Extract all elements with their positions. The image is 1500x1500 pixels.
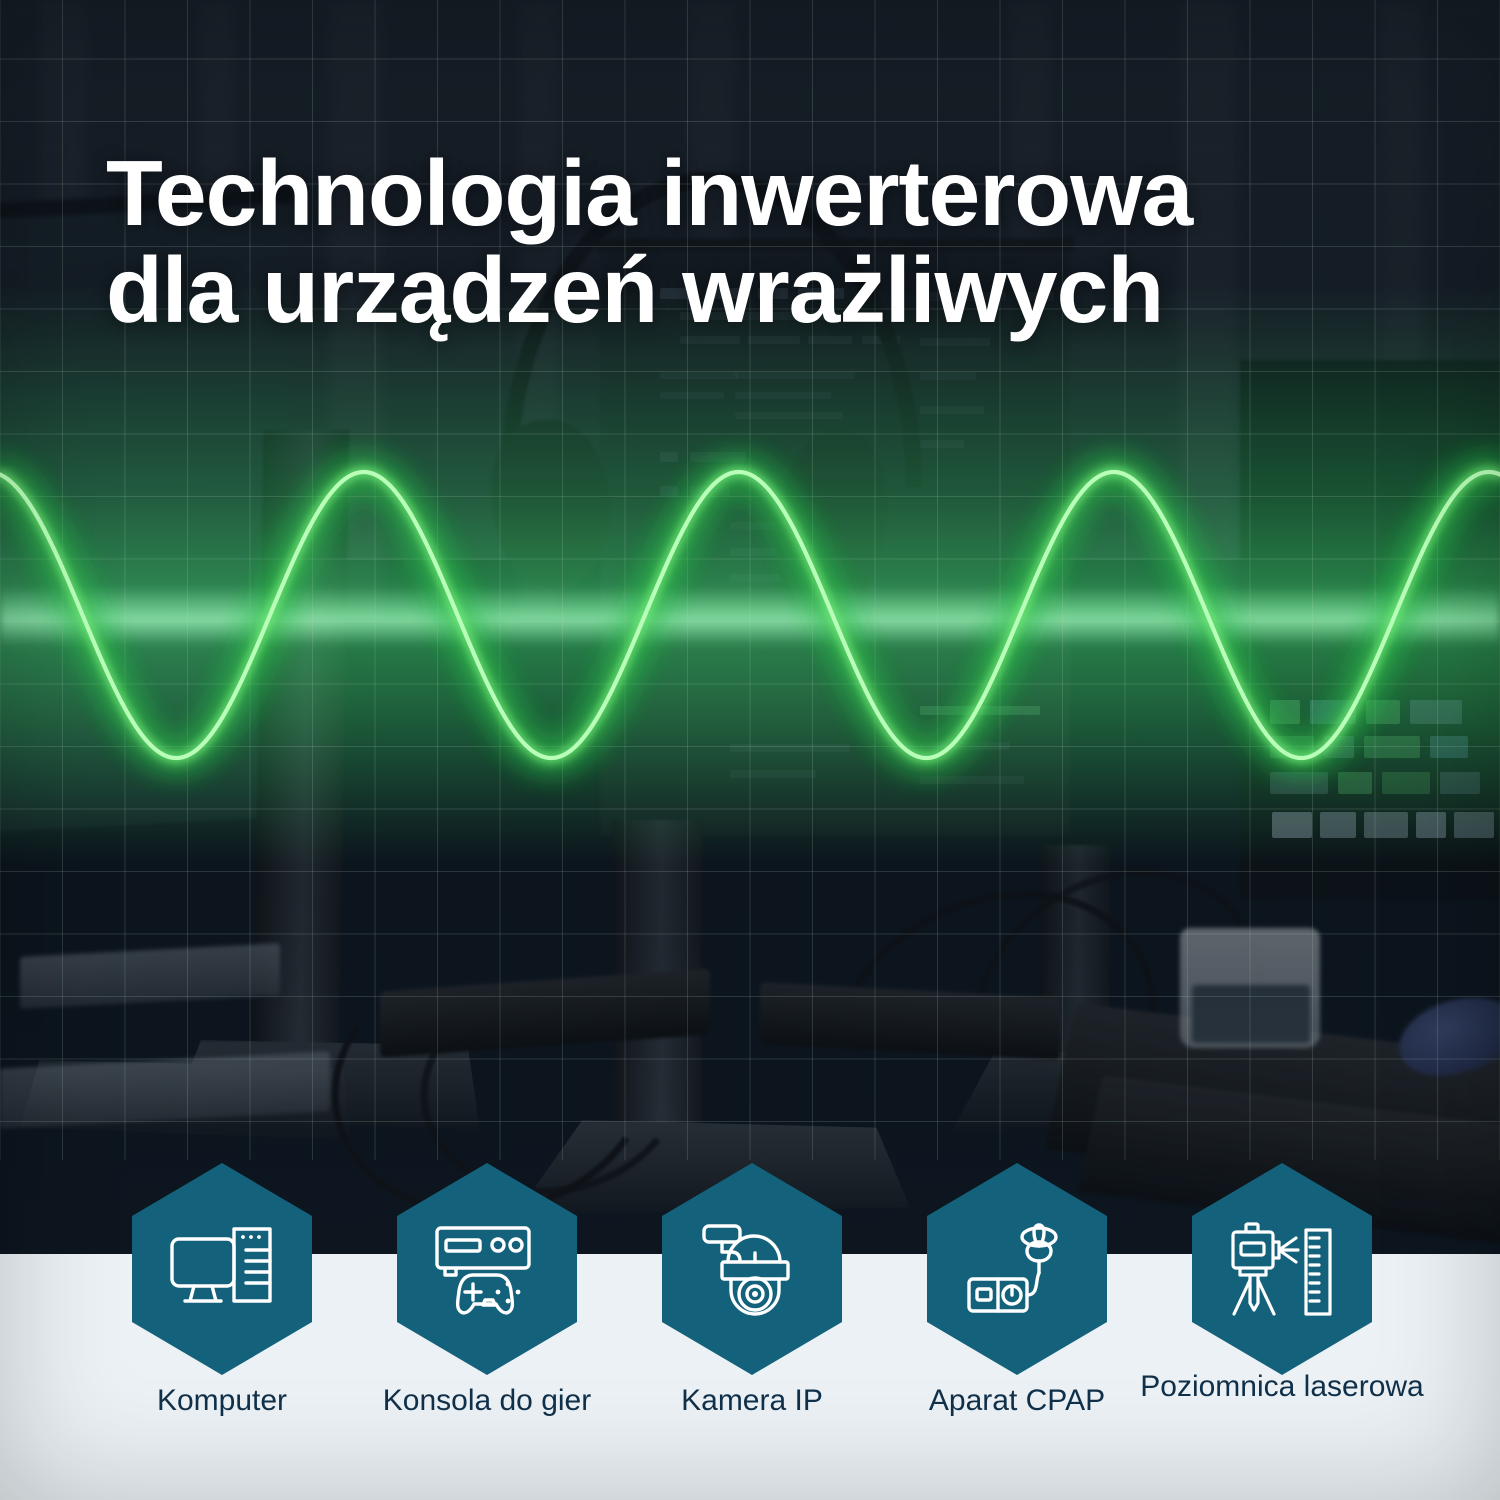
- game-console-icon: [432, 1222, 542, 1316]
- feature-item-computer[interactable]: [132, 1163, 312, 1375]
- infographic-canvas: Technologia inwerterowa dla urządzeń wra…: [0, 0, 1500, 1500]
- hex-badge-game-console[interactable]: [397, 1163, 577, 1375]
- page-title: Technologia inwerterowa dla urządzeń wra…: [106, 145, 1366, 339]
- sine-wave-chart: [0, 285, 1500, 865]
- device-labels-row: Komputer Konsola do gier Kamera IP Apara…: [0, 1382, 1500, 1472]
- label-game-console: Konsola do gier: [337, 1382, 637, 1419]
- hex-badge-ip-camera[interactable]: [662, 1163, 842, 1375]
- desktop-computer-icon: [168, 1223, 276, 1315]
- hex-badge-cpap[interactable]: [927, 1163, 1107, 1375]
- feature-item-ip-camera[interactable]: [662, 1163, 842, 1375]
- laser-level-icon: [1228, 1218, 1336, 1320]
- hex-badge-laser-level[interactable]: [1192, 1163, 1372, 1375]
- feature-item-game-console[interactable]: [397, 1163, 577, 1375]
- feature-item-laser-level[interactable]: [1192, 1163, 1372, 1375]
- cpap-machine-icon: [965, 1217, 1069, 1321]
- headline-line-1: Technologia inwerterowa: [106, 145, 1366, 242]
- label-laser-level: Poziomnica laserowa: [1132, 1368, 1432, 1405]
- dome-camera-icon: [700, 1220, 804, 1318]
- label-cpap: Aparat CPAP: [867, 1382, 1167, 1419]
- hex-badge-computer[interactable]: [132, 1163, 312, 1375]
- headline-line-2: dla urządzeń wrażliwych: [106, 242, 1366, 339]
- device-hex-row: [0, 1163, 1500, 1403]
- label-ip-camera: Kamera IP: [602, 1382, 902, 1419]
- feature-item-cpap[interactable]: [927, 1163, 1107, 1375]
- label-computer: Komputer: [72, 1382, 372, 1419]
